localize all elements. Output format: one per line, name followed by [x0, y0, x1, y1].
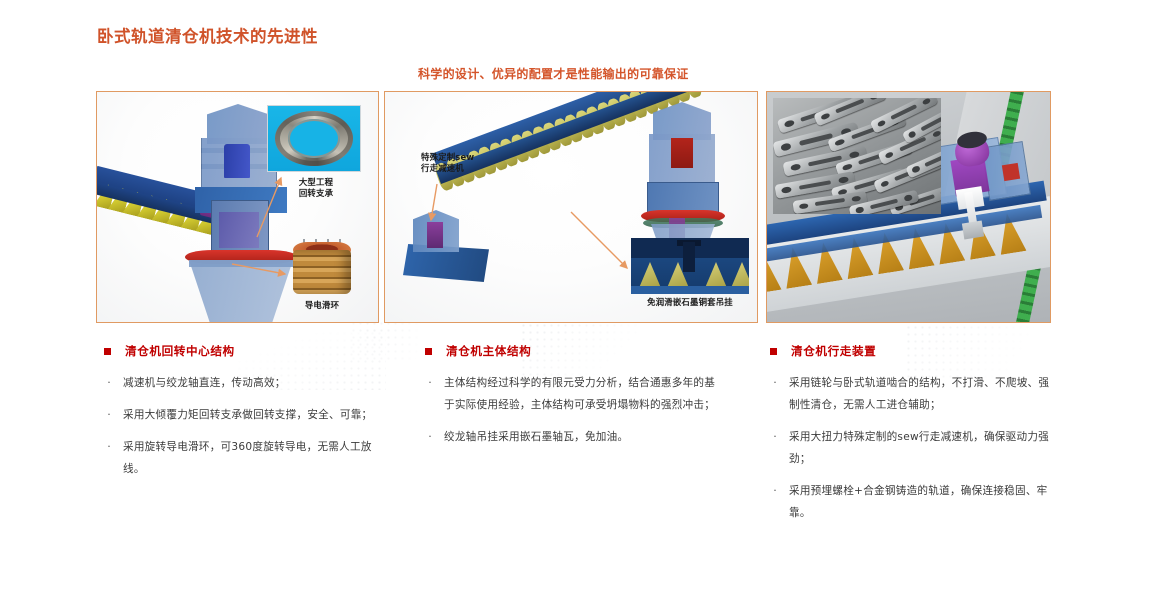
text-column-main-structure: 清仓机主体结构 · 主体结构经过科学的有限元受力分析，结合通惠多年的基于实际使用… — [425, 343, 725, 458]
bullet-dot-icon: · — [104, 436, 114, 458]
list-item-text: 减速机与绞龙轴直连，传动高效； — [123, 372, 286, 394]
bullet-dot-icon: · — [770, 372, 780, 394]
inset-photo-chain-rail-castings — [773, 98, 941, 214]
heading-square-bullet-icon — [104, 348, 111, 355]
text-column-travel-device: 清仓机行走装置 · 采用链轮与卧式轨道啮合的结构，不打滑、不爬坡、强制性清仓，无… — [770, 343, 1058, 534]
list-item: · 采用大倾覆力矩回转支承做回转支撑，安全、可靠； — [104, 404, 390, 426]
bullet-dot-icon: · — [104, 404, 114, 426]
image-panel-travel-device — [766, 91, 1051, 323]
list-item: · 采用大扭力特殊定制的sew行走减速机，确保驱动力强劲； — [770, 426, 1058, 470]
cad-red-component — [1002, 163, 1020, 181]
bullet-dot-icon: · — [770, 426, 780, 448]
bullet-dot-icon: · — [104, 372, 114, 394]
list-item: · 采用链轮与卧式轨道啮合的结构，不打滑、不爬坡、强制性清仓，无需人工进仓辅助； — [770, 372, 1058, 416]
image-panel-main-structure: 特殊定制sew 行走减速机 免润滑嵌石墨铜套吊挂 — [384, 91, 758, 323]
column-heading-1: 清仓机回转中心结构 — [104, 343, 390, 359]
list-item-text: 采用旋转导电滑环，可360度旋转导电，无需人工放线。 — [123, 436, 390, 480]
page-title: 卧式轨道清仓机技术的先进性 — [97, 23, 318, 47]
heading-square-bullet-icon — [770, 348, 777, 355]
list-item: · 主体结构经过科学的有限元受力分析，结合通惠多年的基于实际使用经验，主体结构可… — [425, 372, 725, 416]
list-item-text: 采用预埋螺栓+合金钢铸造的轨道，确保连接稳固、牢靠。 — [789, 480, 1058, 524]
bullet-dot-icon: · — [770, 480, 780, 502]
column-heading-3: 清仓机行走装置 — [770, 343, 1058, 359]
list-item-text: 采用大扭力特殊定制的sew行走减速机，确保驱动力强劲； — [789, 426, 1058, 470]
column-heading-text: 清仓机主体结构 — [446, 343, 531, 359]
column-heading-text: 清仓机回转中心结构 — [125, 343, 235, 359]
bullet-dot-icon: · — [425, 372, 435, 394]
heading-square-bullet-icon — [425, 348, 432, 355]
list-item: · 采用预埋螺栓+合金钢铸造的轨道，确保连接稳固、牢靠。 — [770, 480, 1058, 524]
text-column-rotation-center: 清仓机回转中心结构 · 减速机与绞龙轴直连，传动高效； · 采用大倾覆力矩回转支… — [104, 343, 390, 490]
callout-arrows — [97, 92, 378, 322]
cad-bearing-shoe — [962, 221, 984, 240]
list-item-text: 主体结构经过科学的有限元受力分析，结合通惠多年的基于实际使用经验，主体结构可承受… — [444, 372, 725, 416]
list-item-text: 采用链轮与卧式轨道啮合的结构，不打滑、不爬坡、强制性清仓，无需人工进仓辅助； — [789, 372, 1058, 416]
list-item: · 采用旋转导电滑环，可360度旋转导电，无需人工放线。 — [104, 436, 390, 480]
list-item-text: 采用大倾覆力矩回转支承做回转支撑，安全、可靠； — [123, 404, 372, 426]
list-item: · 绞龙轴吊挂采用嵌石墨轴瓦，免加油。 — [425, 426, 725, 448]
bullet-dot-icon: · — [425, 426, 435, 448]
list-item-text: 绞龙轴吊挂采用嵌石墨轴瓦，免加油。 — [444, 426, 628, 448]
image-panel-rotation-center: 大型工程 回转支承 导电滑环 — [96, 91, 379, 323]
callout-arrows — [385, 92, 757, 322]
column-heading-2: 清仓机主体结构 — [425, 343, 725, 359]
column-heading-text: 清仓机行走装置 — [791, 343, 876, 359]
list-item: · 减速机与绞龙轴直连，传动高效； — [104, 372, 390, 394]
page-subtitle: 科学的设计、优异的配置才是性能输出的可靠保证 — [418, 65, 689, 82]
